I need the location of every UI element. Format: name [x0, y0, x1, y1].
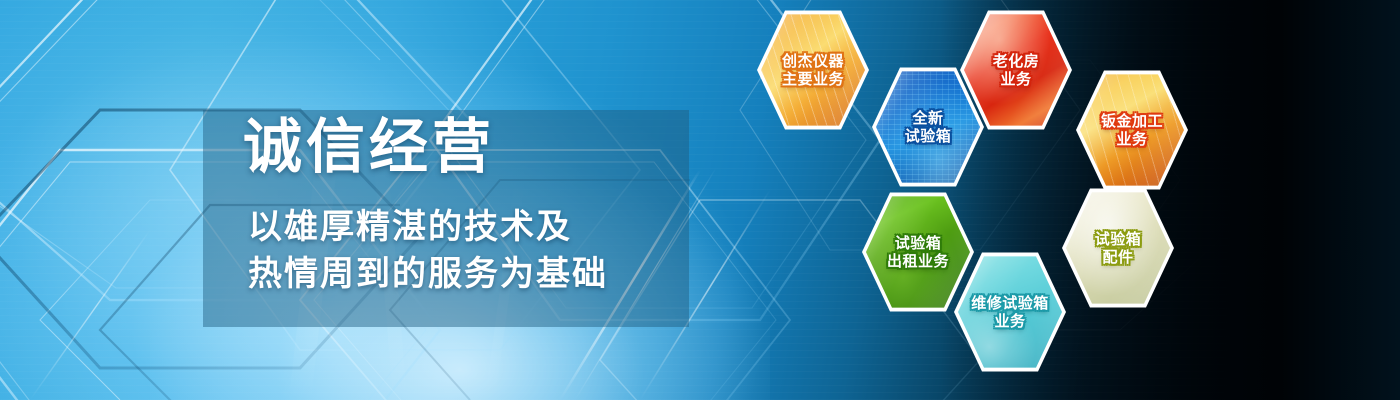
- hex-tile-chamber-accessories[interactable]: 试验箱 配件: [1062, 186, 1174, 310]
- hex-tile-chamber-rental-business[interactable]: 试验箱 出租业务: [862, 190, 974, 314]
- hex-tile-main-business[interactable]: 创杰仪器 主要业务: [757, 8, 869, 132]
- hexagon-cluster: 创杰仪器 主要业务 全新 试验箱 老化房 业务 钣金加工 业务: [0, 0, 1400, 400]
- hex-tile-sheet-metal-business[interactable]: 钣金加工 业务: [1076, 68, 1188, 192]
- promo-banner: 诚信经营 以雄厚精湛的技术及 热情周到的服务为基础 创杰仪器 主要业务 全新 试…: [0, 0, 1400, 400]
- hex-tile-chamber-repair-business[interactable]: 维修试验箱 业务: [954, 250, 1066, 374]
